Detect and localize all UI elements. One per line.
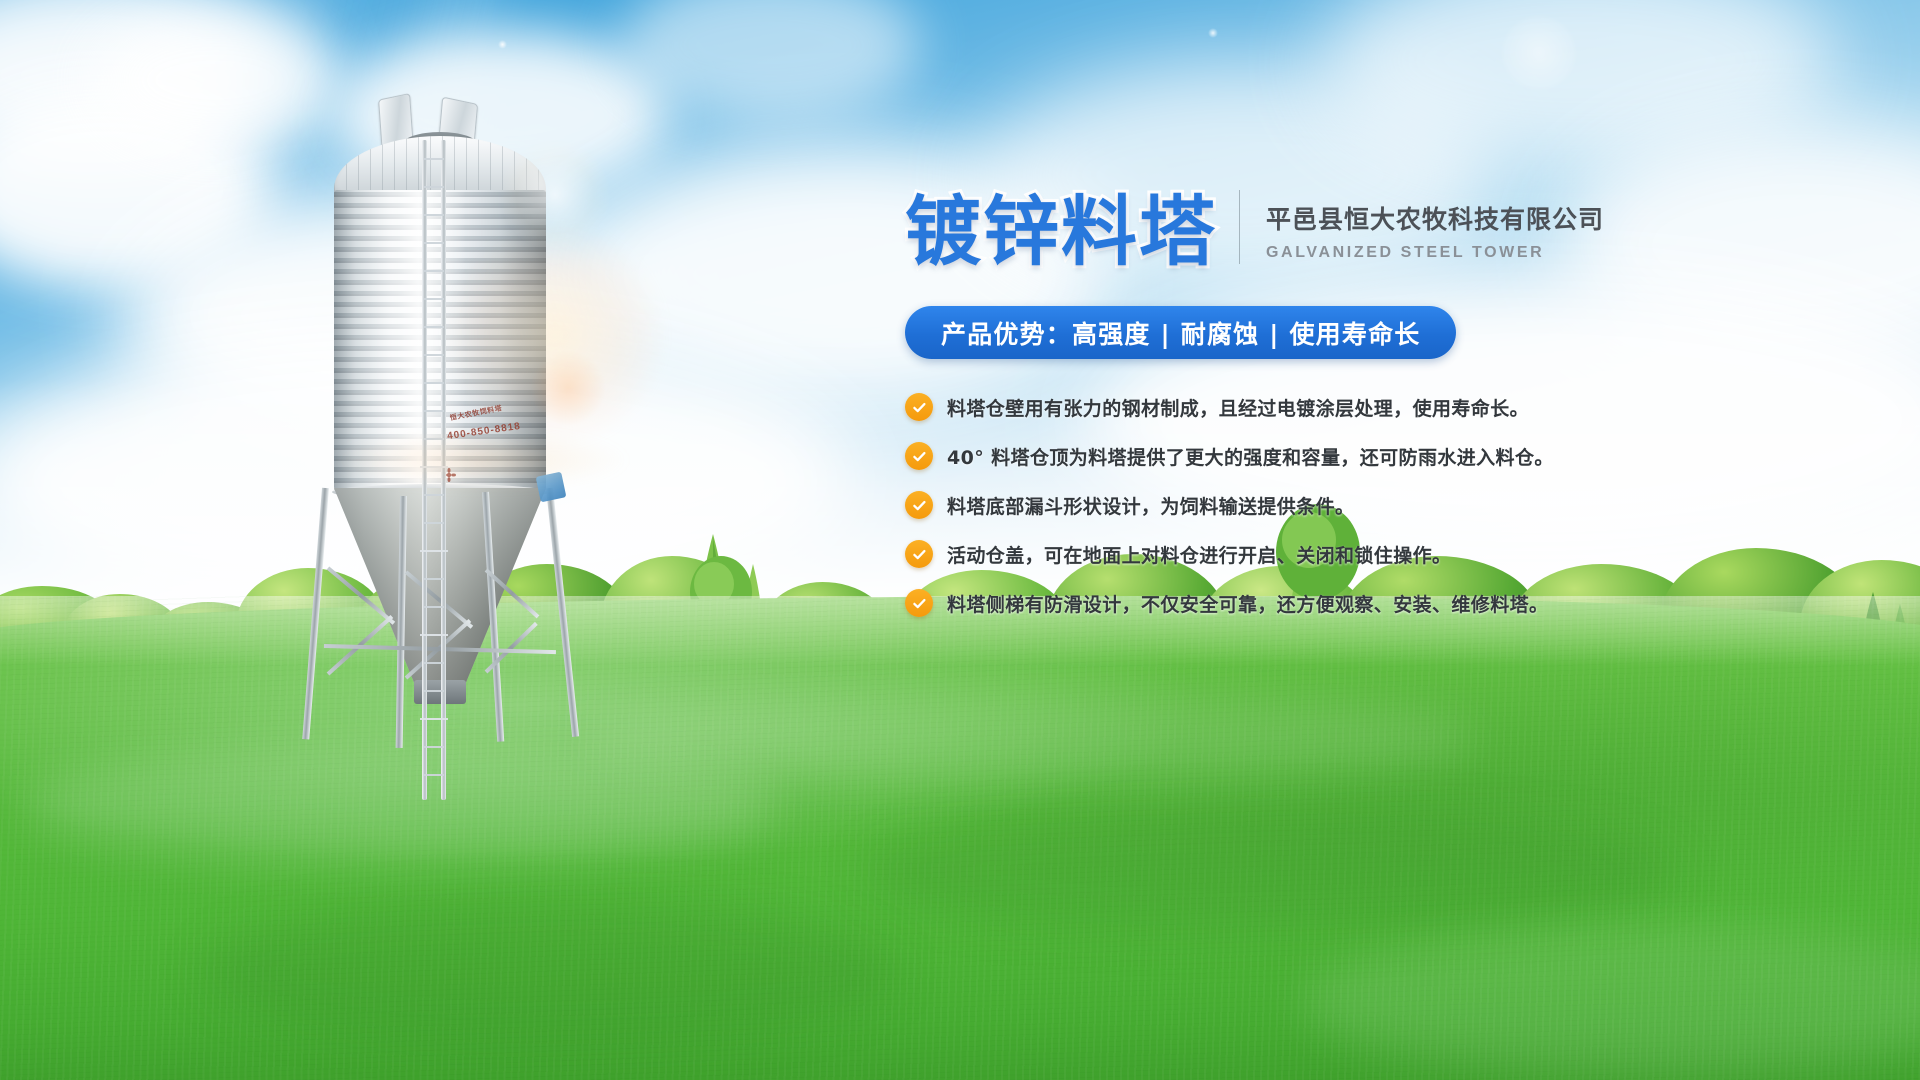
silo-side-ladder[interactable] (422, 140, 446, 800)
ladder-rung (424, 214, 444, 216)
feature-text: 料塔仓壁用有张力的钢材制成，且经过电镀涂层处理，使用寿命长。 (947, 394, 1529, 421)
check-circle-icon (905, 442, 933, 470)
ladder-rail (422, 140, 427, 800)
feature-text: 料塔底部漏斗形状设计，为饲料输送提供条件。 (947, 492, 1354, 519)
mow-stripe (20, 746, 780, 866)
feature-text: 料塔侧梯有防滑设计，不仅安全可靠，还方便观察、安装、维修料塔。 (947, 590, 1548, 617)
english-subtitle: GALVANIZED STEEL TOWER (1266, 244, 1604, 262)
cloud (90, 10, 340, 150)
feature-list: 料塔仓壁用有张力的钢材制成，且经过电镀涂层处理，使用寿命长。 40° 料塔仓顶为… (905, 393, 1625, 617)
ladder-rung (424, 242, 444, 244)
advantage-badge: 产品优势：高强度 | 耐腐蚀 | 使用寿命长 (905, 306, 1456, 359)
silo-leg (302, 488, 329, 740)
ladder-rung (424, 494, 444, 496)
company-name: 平邑县恒大农牧科技有限公司 (1266, 204, 1604, 235)
list-item: 料塔仓壁用有张力的钢材制成，且经过电镀涂层处理，使用寿命长。 (905, 393, 1625, 421)
ladder-rung (424, 326, 444, 328)
ladder-cage-hoop (420, 718, 448, 720)
ladder-rung (424, 774, 444, 776)
list-item: 料塔底部漏斗形状设计，为饲料输送提供条件。 (905, 491, 1625, 519)
check-circle-icon (905, 393, 933, 421)
ladder-rung (424, 662, 444, 664)
ladder-rung (424, 186, 444, 188)
content-panel: 镀锌料塔 平邑县恒大农牧科技有限公司 GALVANIZED STEEL TOWE… (905, 190, 1625, 638)
check-circle-icon (905, 589, 933, 617)
ladder-rung (424, 382, 444, 384)
check-circle-icon (905, 491, 933, 519)
ladder-rung (424, 410, 444, 412)
ladder-rail (441, 140, 446, 800)
ladder-rung (424, 438, 444, 440)
feature-text: 40° 料塔仓顶为料塔提供了更大的强度和容量，还可防雨水进入料仓。 (947, 443, 1554, 470)
title-row: 镀锌料塔 平邑县恒大农牧科技有限公司 GALVANIZED STEEL TOWE… (905, 190, 1625, 270)
product-banner: 恒大农牧饲料塔 400-850-8818 (0, 0, 1920, 1080)
galvanized-feed-silo: 恒大农牧饲料塔 400-850-8818 (306, 96, 574, 746)
title-divider (1239, 190, 1240, 264)
feature-text: 活动仓盖，可在地面上对料仓进行开启、关闭和锁住操作。 (947, 541, 1451, 568)
ladder-rung (424, 158, 444, 160)
silo-accessory-panel (536, 472, 567, 503)
ladder-rung (424, 606, 444, 608)
ladder-rung (424, 354, 444, 356)
ladder-cage-hoop (420, 634, 448, 636)
ladder-rung (424, 270, 444, 272)
mow-stripe (580, 692, 1480, 782)
ladder-rung (424, 522, 444, 524)
mow-stripe (860, 806, 1680, 936)
list-item: 料塔侧梯有防滑设计，不仅安全可靠，还方便观察、安装、维修料塔。 (905, 589, 1625, 617)
check-circle-icon (905, 540, 933, 568)
ladder-rung (424, 690, 444, 692)
ladder-rung (424, 298, 444, 300)
ladder-rung (424, 746, 444, 748)
list-item: 活动仓盖，可在地面上对料仓进行开启、关闭和锁住操作。 (905, 540, 1625, 568)
mow-stripe (200, 896, 900, 1046)
ladder-cage-hoop (420, 550, 448, 552)
grass-field (0, 596, 1920, 1080)
list-item: 40° 料塔仓顶为料塔提供了更大的强度和容量，还可防雨水进入料仓。 (905, 442, 1625, 470)
page-title: 镀锌料塔 (905, 194, 1217, 270)
brand-block: 平邑县恒大农牧科技有限公司 GALVANIZED STEEL TOWER (1266, 204, 1604, 270)
ladder-cage-hoop (420, 466, 448, 468)
ladder-rung (424, 578, 444, 580)
lens-bokeh (1208, 28, 1218, 38)
